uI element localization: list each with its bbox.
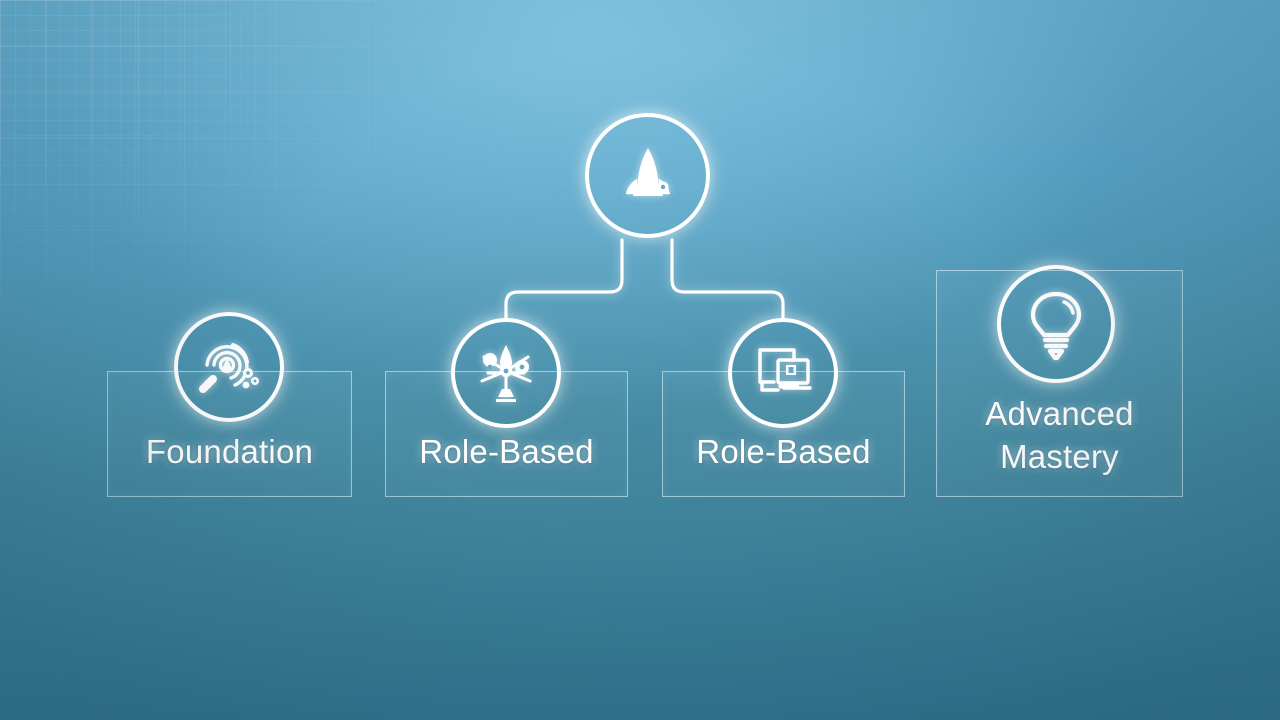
card-label-role-based-2: Role-Based — [663, 434, 904, 470]
node-root[interactable] — [585, 113, 710, 238]
card-label-foundation: Foundation — [108, 434, 351, 470]
diagram-canvas: Foundation Role-Based Role-Based Advance… — [0, 0, 1280, 720]
card-label-role-based-1: Role-Based — [386, 434, 627, 470]
network-hierarchy-icon — [470, 337, 542, 409]
lightbulb-icon — [1021, 286, 1091, 362]
connector-root-to-role-based-2 — [672, 240, 783, 318]
node-role-based-1[interactable] — [451, 318, 561, 428]
target-search-gear-icon — [193, 331, 265, 403]
node-advanced-mastery[interactable] — [997, 265, 1115, 383]
connector-root-to-role-based-1 — [506, 240, 622, 318]
node-foundation[interactable] — [174, 312, 284, 422]
card-label-line-1: Advanced — [985, 395, 1133, 432]
rocket-launch-icon — [610, 138, 686, 214]
node-role-based-2[interactable] — [728, 318, 838, 428]
card-label-line-2: Mastery — [1000, 438, 1119, 475]
devices-monitor-icon — [748, 338, 818, 408]
card-label-advanced-mastery: Advanced Mastery — [937, 393, 1182, 479]
